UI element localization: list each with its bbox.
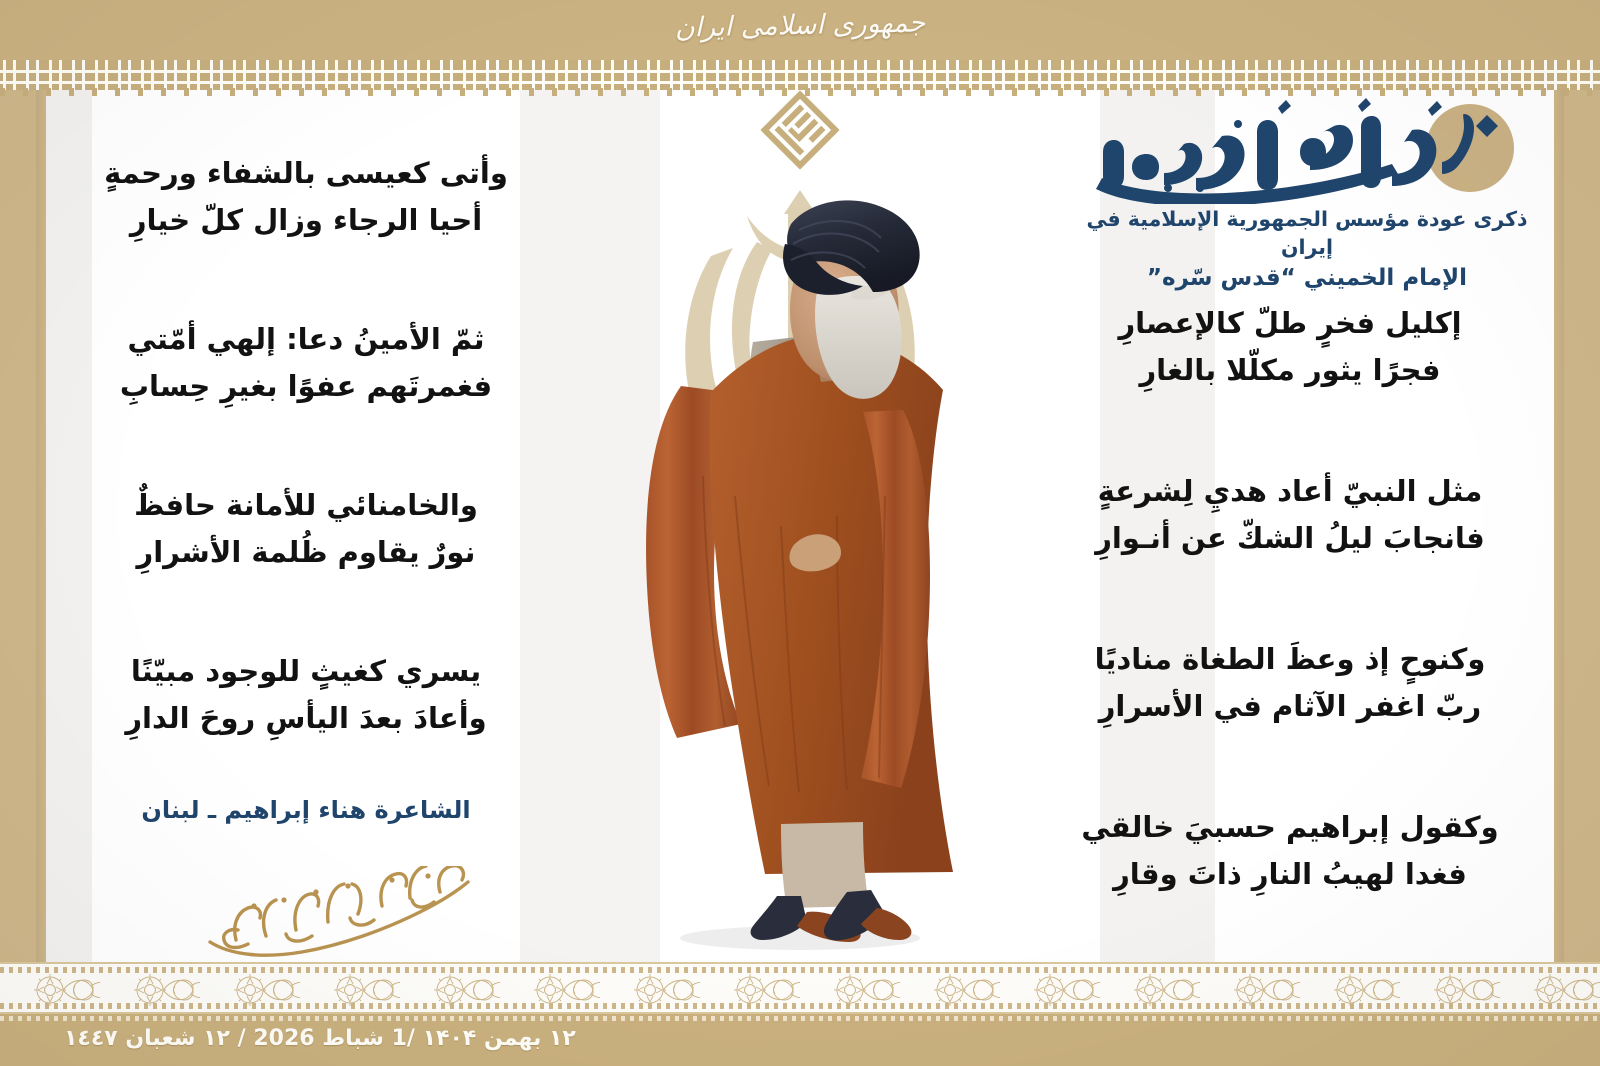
poem-column-right: إكليل فخرٍ طلّ كالإعصارِ فجرًا يثور مكلّ…	[1040, 300, 1540, 972]
footer-date-bar: ۱۲ بهمن ۱۴۰۴ /1 شباط 2026 / ١٢ شعبان ١٤٤…	[0, 1014, 1600, 1066]
poem-verse: وأعادَ بعدَ اليأسِ روحَ الدارِ	[66, 695, 546, 742]
logo-wordmark-icon	[1072, 96, 1542, 204]
poem-verse: وأتى كعيسى بالشفاء ورحمةٍ	[66, 150, 546, 197]
left-gold-margin	[0, 0, 46, 1066]
poem-verse: فغدا لهيبُ النارِ ذاتَ وقارِ	[1040, 851, 1540, 898]
poem-stanza: وكنوحٍ إذ وعظَ الطغاة مناديًا ربّ اغفر ا…	[1040, 636, 1540, 730]
logo-subtitle-1: ذكرى عودة مؤسس الجمهورية الإسلامية في إي…	[1072, 206, 1542, 261]
poem-column-left: وأتى كعيسى بالشفاء ورحمةٍ أحيا الرجاء وز…	[66, 150, 546, 824]
poem-stanza: إكليل فخرٍ طلّ كالإعصارِ فجرًا يثور مكلّ…	[1040, 300, 1540, 394]
poem-verse: والخامنائي للأمانة حافظٌ	[66, 482, 546, 529]
poem-verse: أحيا الرجاء وزال كلّ خيارِ	[66, 197, 546, 244]
poem-verse: ثمّ الأمينُ دعا: إلهي أمّتي	[66, 316, 546, 363]
right-gold-margin	[1554, 0, 1600, 1066]
footer-date-text: ۱۲ بهمن ۱۴۰۴ /1 شباط 2026 / ١٢ شعبان ١٤٤…	[64, 1026, 576, 1051]
poem-stanza: وأتى كعيسى بالشفاء ورحمةٍ أحيا الرجاء وز…	[66, 150, 546, 244]
poem-stanza: وكقول إبراهيم حسبيَ خالقي فغدا لهيبُ الن…	[1040, 804, 1540, 898]
poem-stanza: ثمّ الأمينُ دعا: إلهي أمّتي فغمرتَهم عفو…	[66, 316, 546, 410]
poem-verse: وكنوحٍ إذ وعظَ الطغاة مناديًا	[1040, 636, 1540, 683]
poem-verse: فجرًا يثور مكلّلا بالغارِ	[1040, 347, 1540, 394]
poem-verse: نورٌ يقاوم ظُلمة الأشرارِ	[66, 529, 546, 576]
poem-stanza: والخامنائي للأمانة حافظٌ نورٌ يقاوم ظُلم…	[66, 482, 546, 576]
logo-subtitle-2: الإمام الخميني “قدس سّره”	[1072, 264, 1542, 294]
poem-verse: فانجابَ ليلُ الشكّ عن أنـوارِ	[1040, 515, 1540, 562]
poster-canvas: جمهوری اسلامی ایران	[0, 0, 1600, 1066]
nidaa-al-anbiya-logo: ذكرى عودة مؤسس الجمهورية الإسلامية في إي…	[1072, 96, 1542, 294]
footer-dot-fringe	[0, 1016, 1600, 1021]
floral-rosette-border-icon	[0, 962, 1600, 1014]
imam-khomeini-portrait-icon	[585, 196, 1015, 966]
poem-verse: فغمرتَهم عفوًا بغيرِ حِسابِ	[66, 363, 546, 410]
poem-verse: إكليل فخرٍ طلّ كالإعصارِ	[1040, 300, 1540, 347]
poem-verse: ربّ اغفر الآثام في الأسرارِ	[1040, 683, 1540, 730]
poem-stanza: مثل النبيّ أعاد هديِ لِشرعةٍ فانجابَ ليل…	[1040, 468, 1540, 562]
poet-attribution: الشاعرة هناء إبراهيم ـ لبنان	[66, 796, 546, 824]
poem-stanza: يسري كغيثٍ للوجود مبيّنًا وأعادَ بعدَ ال…	[66, 648, 546, 742]
poem-verse: يسري كغيثٍ للوجود مبيّنًا	[66, 648, 546, 695]
ibdaa-lebanon-calligraphy-icon	[196, 866, 486, 962]
poem-verse: مثل النبيّ أعاد هديِ لِشرعةٍ	[1040, 468, 1540, 515]
poem-verse: وكقول إبراهيم حسبيَ خالقي	[1040, 804, 1540, 851]
